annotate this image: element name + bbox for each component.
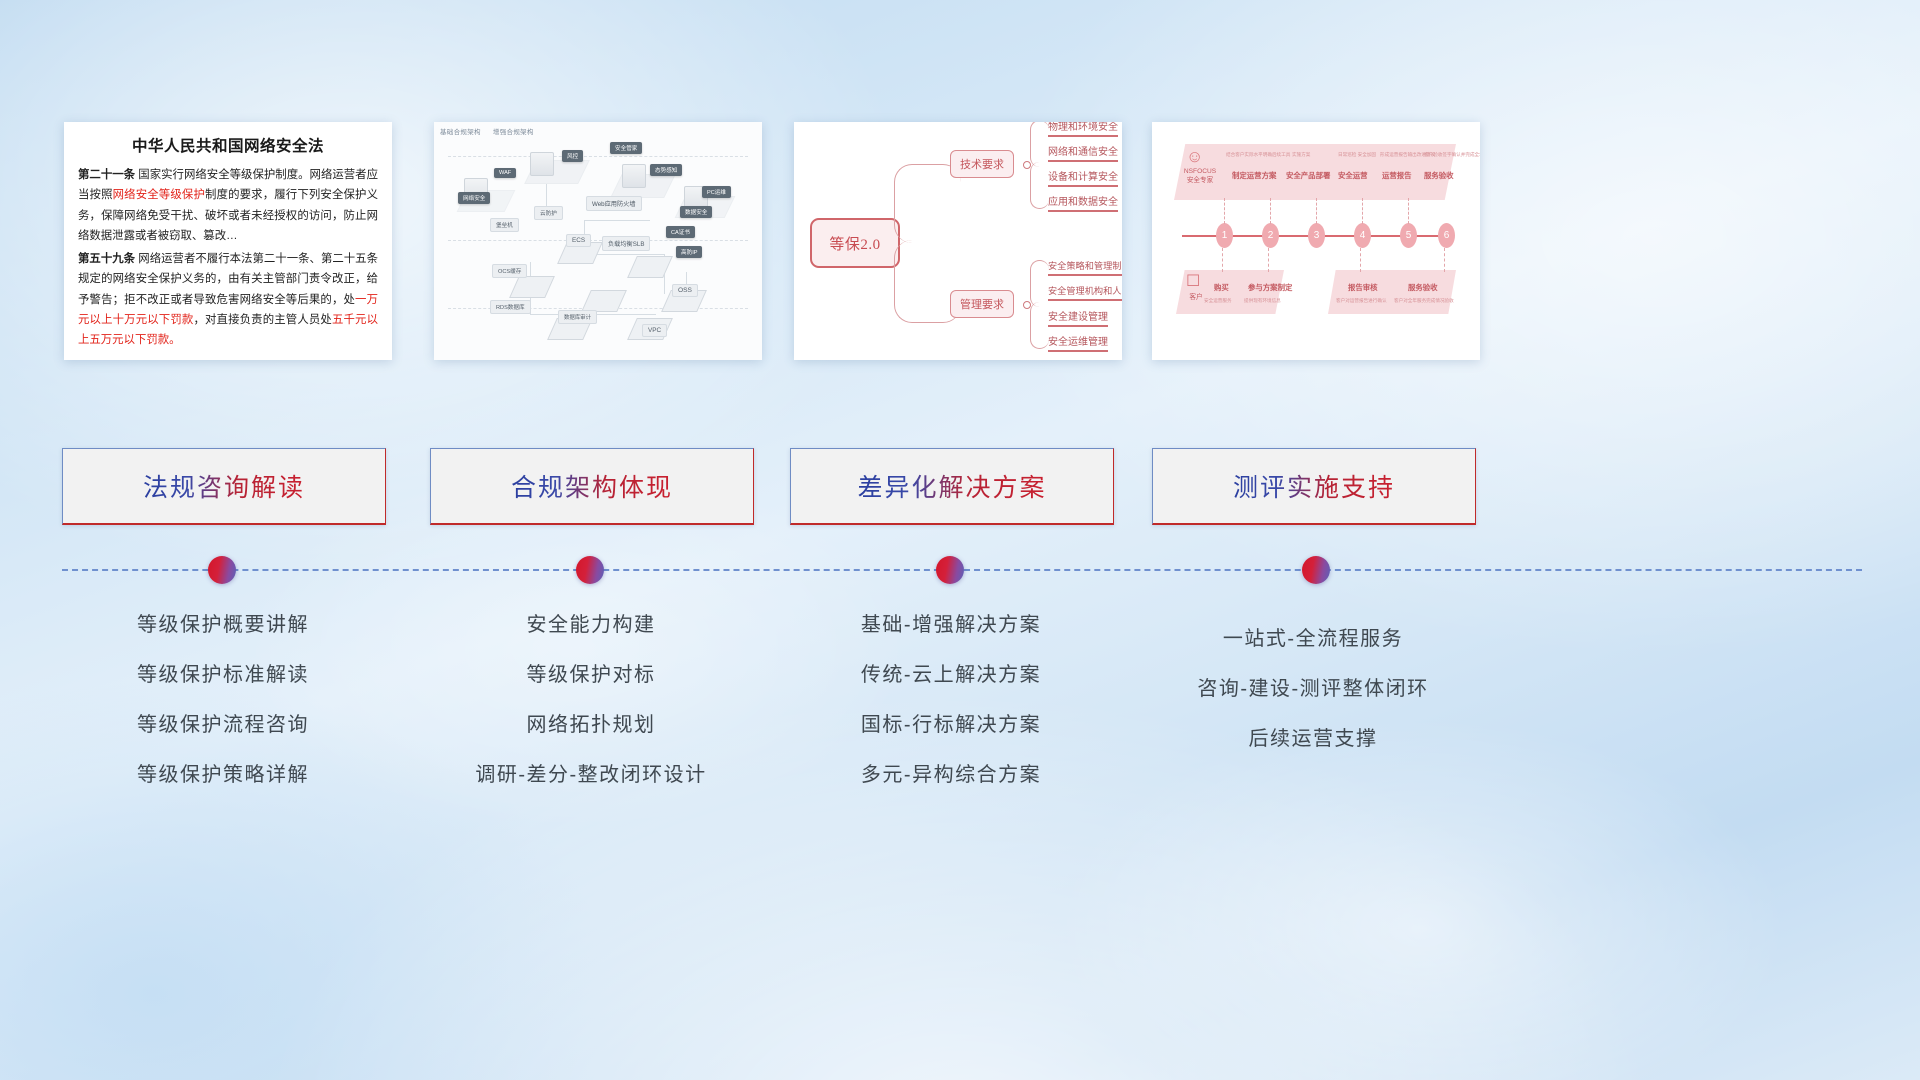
arch-tag: ECS [566, 234, 591, 247]
tick [1268, 248, 1269, 272]
label-box-evaluation-support[interactable]: 测评实施支持 [1152, 448, 1476, 525]
detail-list-row: 等级保护概要讲解 等级保护标准解读 等级保护流程咨询 等级保护策略详解 安全能力… [0, 600, 1920, 820]
mindmap-connector [1030, 260, 1049, 307]
list-item: 等级保护对标 [430, 650, 752, 700]
preview-card-row: 中华人民共和国网络安全法 第二十一条 国家实行网络安全等级保护制度。网络运营者应… [0, 122, 1920, 362]
arch-tag: Web应用防火墙 [586, 196, 642, 211]
label-box-differentiated-solution[interactable]: 差异化解决方案 [790, 448, 1114, 525]
mindmap-root: 等保2.0 [810, 218, 900, 268]
arch-tag: 高防IP [676, 246, 702, 258]
step-label: 报告审核 [1348, 282, 1378, 293]
arch-tag: 负载均衡SLB [602, 236, 650, 251]
step-sub: 提供现有环境信息 [1244, 298, 1281, 304]
arch-tag: 网络安全 [458, 192, 490, 204]
step-sub: 结合客户实际水平明确后续工具 [1226, 152, 1290, 158]
arch-tag: 云防护 [534, 206, 563, 220]
timeline-row [0, 556, 1920, 584]
list-item: 调研-差分-整改闭环设计 [430, 750, 752, 800]
step-label: 服务验收 [1408, 282, 1438, 293]
card-mindmap-dengbao[interactable]: 等保2.0 技术要求 物理和环境安全 网络和通信安全 设备和计算安全 应用和数据… [794, 122, 1122, 360]
arch-header-left: 基础合规架构 [440, 129, 481, 136]
list-item: 基础-增强解决方案 [790, 600, 1112, 650]
tick [1224, 198, 1225, 224]
tick [1408, 198, 1409, 224]
person-star-icon: ☺ [1186, 148, 1203, 165]
step-label: 安全产品部署 [1286, 170, 1330, 181]
article-59-label: 第五十九条 [78, 253, 135, 265]
label-box-regulation-consulting[interactable]: 法规咨询解读 [62, 448, 386, 525]
step-label: 运营报告 [1382, 170, 1412, 181]
timeline-step-6: 6 [1438, 223, 1455, 248]
step-label: 购买 [1214, 282, 1229, 293]
timeline-step-1: 1 [1216, 223, 1233, 248]
arch-tag: OSS [672, 284, 698, 297]
detail-column-1: 等级保护概要讲解 等级保护标准解读 等级保护流程咨询 等级保护策略详解 [62, 600, 384, 800]
tick [1360, 248, 1361, 272]
article-21-label: 第二十一条 [78, 169, 135, 181]
arch-tag: 数据安全 [680, 206, 712, 218]
vendor-name: NSFOCUS [1172, 168, 1228, 177]
mindmap-leaf: 应用和数据安全 [1048, 193, 1118, 212]
list-item: 传统-云上解决方案 [790, 650, 1112, 700]
list-item: 咨询-建设-测评整体闭环 [1152, 664, 1474, 714]
mindmap-leaf: 设备和计算安全 [1048, 168, 1118, 187]
list-item: 安全能力构建 [430, 600, 752, 650]
architecture-diagram: 基础合规架构 增强合规架构 [434, 122, 762, 360]
category-label-row: 法规咨询解读 合规架构体现 差异化解决方案 测评实施支持 [0, 448, 1920, 524]
label-box-compliance-architecture[interactable]: 合规架构体现 [430, 448, 754, 525]
list-item: 等级保护流程咨询 [62, 700, 384, 750]
law-title: 中华人民共和国网络安全法 [78, 134, 378, 156]
step-sub: 客户验收签字确认并完成全年服务 [1424, 152, 1480, 158]
step-sub: 客户对全年服务完成情况验收 [1394, 298, 1454, 304]
arch-tag: 态势感知 [650, 164, 682, 176]
timeline-marker-4[interactable] [1302, 556, 1330, 584]
timeline-step-4: 4 [1354, 223, 1371, 248]
detail-column-4: 一站式-全流程服务 咨询-建设-测评整体闭环 后续运营支撑 [1152, 614, 1474, 764]
node-hex [509, 276, 555, 298]
architecture-header: 基础合规架构 增强合规架构 [440, 126, 544, 136]
list-item: 等级保护策略详解 [62, 750, 384, 800]
law-document: 中华人民共和国网络安全法 第二十一条 国家实行网络安全等级保护制度。网络运营者应… [64, 122, 392, 360]
arch-tag: 数据库审计 [558, 310, 597, 324]
card-cybersecurity-law[interactable]: 中华人民共和国网络安全法 第二十一条 国家实行网络安全等级保护制度。网络运营者应… [64, 122, 392, 360]
arch-header-right: 增强合规架构 [493, 129, 534, 136]
mindmap-branch-technical: 技术要求 [950, 150, 1014, 178]
mindmap-connector [1030, 162, 1049, 209]
list-item: 多元-异构综合方案 [790, 750, 1112, 800]
step-label: 服务验收 [1424, 170, 1454, 181]
detail-column-3: 基础-增强解决方案 传统-云上解决方案 国标-行标解决方案 多元-异构综合方案 [790, 600, 1112, 800]
timeline-marker-3[interactable] [936, 556, 964, 584]
server-box [622, 164, 646, 188]
law-article-21: 第二十一条 国家实行网络安全等级保护制度。网络运营者应当按照网络安全等级保护制度… [78, 165, 378, 246]
arch-tag: PC运维 [702, 186, 731, 198]
tick [1444, 248, 1445, 272]
label-text: 差异化解决方案 [857, 468, 1046, 504]
arch-tag: 堡垒机 [490, 218, 519, 232]
law-article-59: 第五十九条 网络运营者不履行本法第二十一条、第二十五条规定的网络安全保护义务的，… [78, 249, 378, 350]
list-item: 一站式-全流程服务 [1152, 614, 1474, 664]
service-timeline: ☺ NSFOCUS 安全专家 ☐ 客户 结合客户实际水平明确后续工具 制定运营方… [1152, 122, 1480, 360]
mindmap-branch-management: 管理要求 [950, 290, 1014, 318]
mindmap-leaf: 安全管理机构和人员 [1048, 283, 1122, 301]
link [584, 220, 650, 221]
arch-tag: 安全管家 [610, 142, 642, 154]
tick [1316, 198, 1317, 224]
tick [1362, 198, 1363, 224]
mindmap-connector [1030, 302, 1049, 349]
card-service-timeline[interactable]: ☺ NSFOCUS 安全专家 ☐ 客户 结合客户实际水平明确后续工具 制定运营方… [1152, 122, 1480, 360]
step-label: 参与方案制定 [1248, 282, 1292, 293]
list-item: 国标-行标解决方案 [790, 700, 1112, 750]
step-sub: 安全运营服务 [1204, 298, 1232, 304]
arch-tag: OCS缓存 [492, 264, 527, 278]
node-hex [627, 256, 673, 278]
timeline-marker-2[interactable] [576, 556, 604, 584]
mindmap-leaf: 安全运维管理 [1048, 333, 1108, 352]
list-item: 网络拓扑规划 [430, 700, 752, 750]
step-sub: 实施方案 [1292, 152, 1310, 158]
vendor-role: NSFOCUS 安全专家 [1172, 168, 1228, 186]
arch-tag: RDS数据库 [490, 300, 531, 314]
list-item: 等级保护概要讲解 [62, 600, 384, 650]
iso-guide [448, 156, 748, 157]
arch-tag: VPC [642, 324, 667, 337]
mindmap-connector [1030, 122, 1049, 167]
article-21-highlight: 网络安全等级保护 [113, 189, 205, 201]
mindmap-leaf: 物理和环境安全 [1048, 122, 1118, 137]
arch-tag: WAF [494, 168, 516, 178]
person-check-icon: ☐ [1186, 274, 1200, 290]
tick [1222, 248, 1223, 272]
label-text: 测评实施支持 [1233, 468, 1395, 504]
timeline-step-3: 3 [1308, 223, 1325, 248]
mindmap-leaf: 安全策略和管理制度 [1048, 258, 1122, 276]
step-sub: 客户对运营报告进行确认 [1336, 298, 1387, 304]
mindmap-leaf: 安全建设管理 [1048, 308, 1108, 327]
mindmap: 等保2.0 技术要求 物理和环境安全 网络和通信安全 设备和计算安全 应用和数据… [794, 122, 1122, 360]
timeline-step-2: 2 [1262, 223, 1279, 248]
arch-tag: CA证书 [666, 226, 695, 238]
list-item: 等级保护标准解读 [62, 650, 384, 700]
label-text: 法规咨询解读 [143, 468, 305, 504]
step-label: 制定运营方案 [1232, 170, 1276, 181]
list-item: 后续运营支撑 [1152, 714, 1474, 764]
article-59-text-b: ，对直接负责的主管人员处 [193, 314, 332, 326]
card-compliance-architecture[interactable]: 基础合规架构 增强合规架构 [434, 122, 762, 360]
step-sub: 日常巡检 安全加固 [1338, 152, 1376, 158]
arch-tag: 风控 [562, 150, 583, 162]
label-text: 合规架构体现 [511, 468, 673, 504]
timeline-marker-1[interactable] [208, 556, 236, 584]
mindmap-leaf: 网络和通信安全 [1048, 143, 1118, 162]
server-box [530, 152, 554, 176]
timeline-step-5: 5 [1400, 223, 1417, 248]
vendor-sub: 安全专家 [1172, 177, 1228, 186]
step-label: 安全运营 [1338, 170, 1368, 181]
detail-column-2: 安全能力构建 等级保护对标 网络拓扑规划 调研-差分-整改闭环设计 [430, 600, 752, 800]
iso-guide [448, 240, 748, 241]
tick [1270, 198, 1271, 224]
